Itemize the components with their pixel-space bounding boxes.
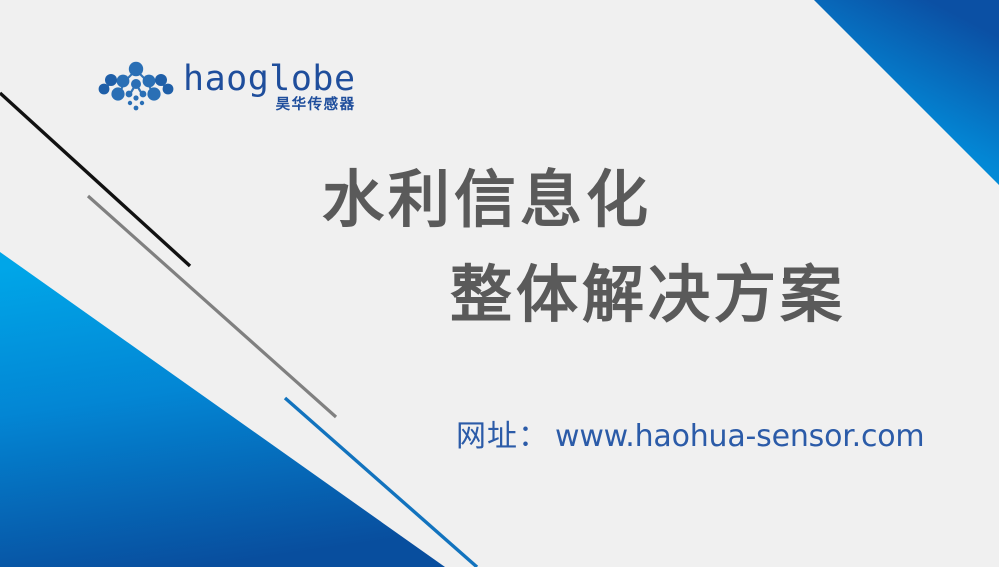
network-nodes-logo-mark — [97, 58, 175, 116]
website-url[interactable]: www.haohua-sensor.com — [555, 422, 924, 452]
slide-title-line-1: 水利信息化 — [322, 169, 652, 231]
top-right-triangle — [814, 0, 999, 185]
company-logo: haoglobe 昊华传感器 — [97, 58, 356, 116]
logo-subtext: 昊华传感器 — [276, 97, 356, 114]
website-row: 网址： www.haohua-sensor.com — [456, 422, 924, 452]
black-accent-line — [0, 93, 190, 266]
bottom-left-triangle — [0, 252, 445, 567]
website-label: 网址： — [456, 422, 549, 452]
logo-wordmark: haoglobe — [183, 62, 356, 96]
logo-text-group: haoglobe 昊华传感器 — [183, 60, 356, 114]
presentation-slide: haoglobe 昊华传感器 水利信息化 整体解决方案 网址： www.haoh… — [0, 0, 999, 567]
slide-title-line-2: 整体解决方案 — [450, 264, 846, 326]
